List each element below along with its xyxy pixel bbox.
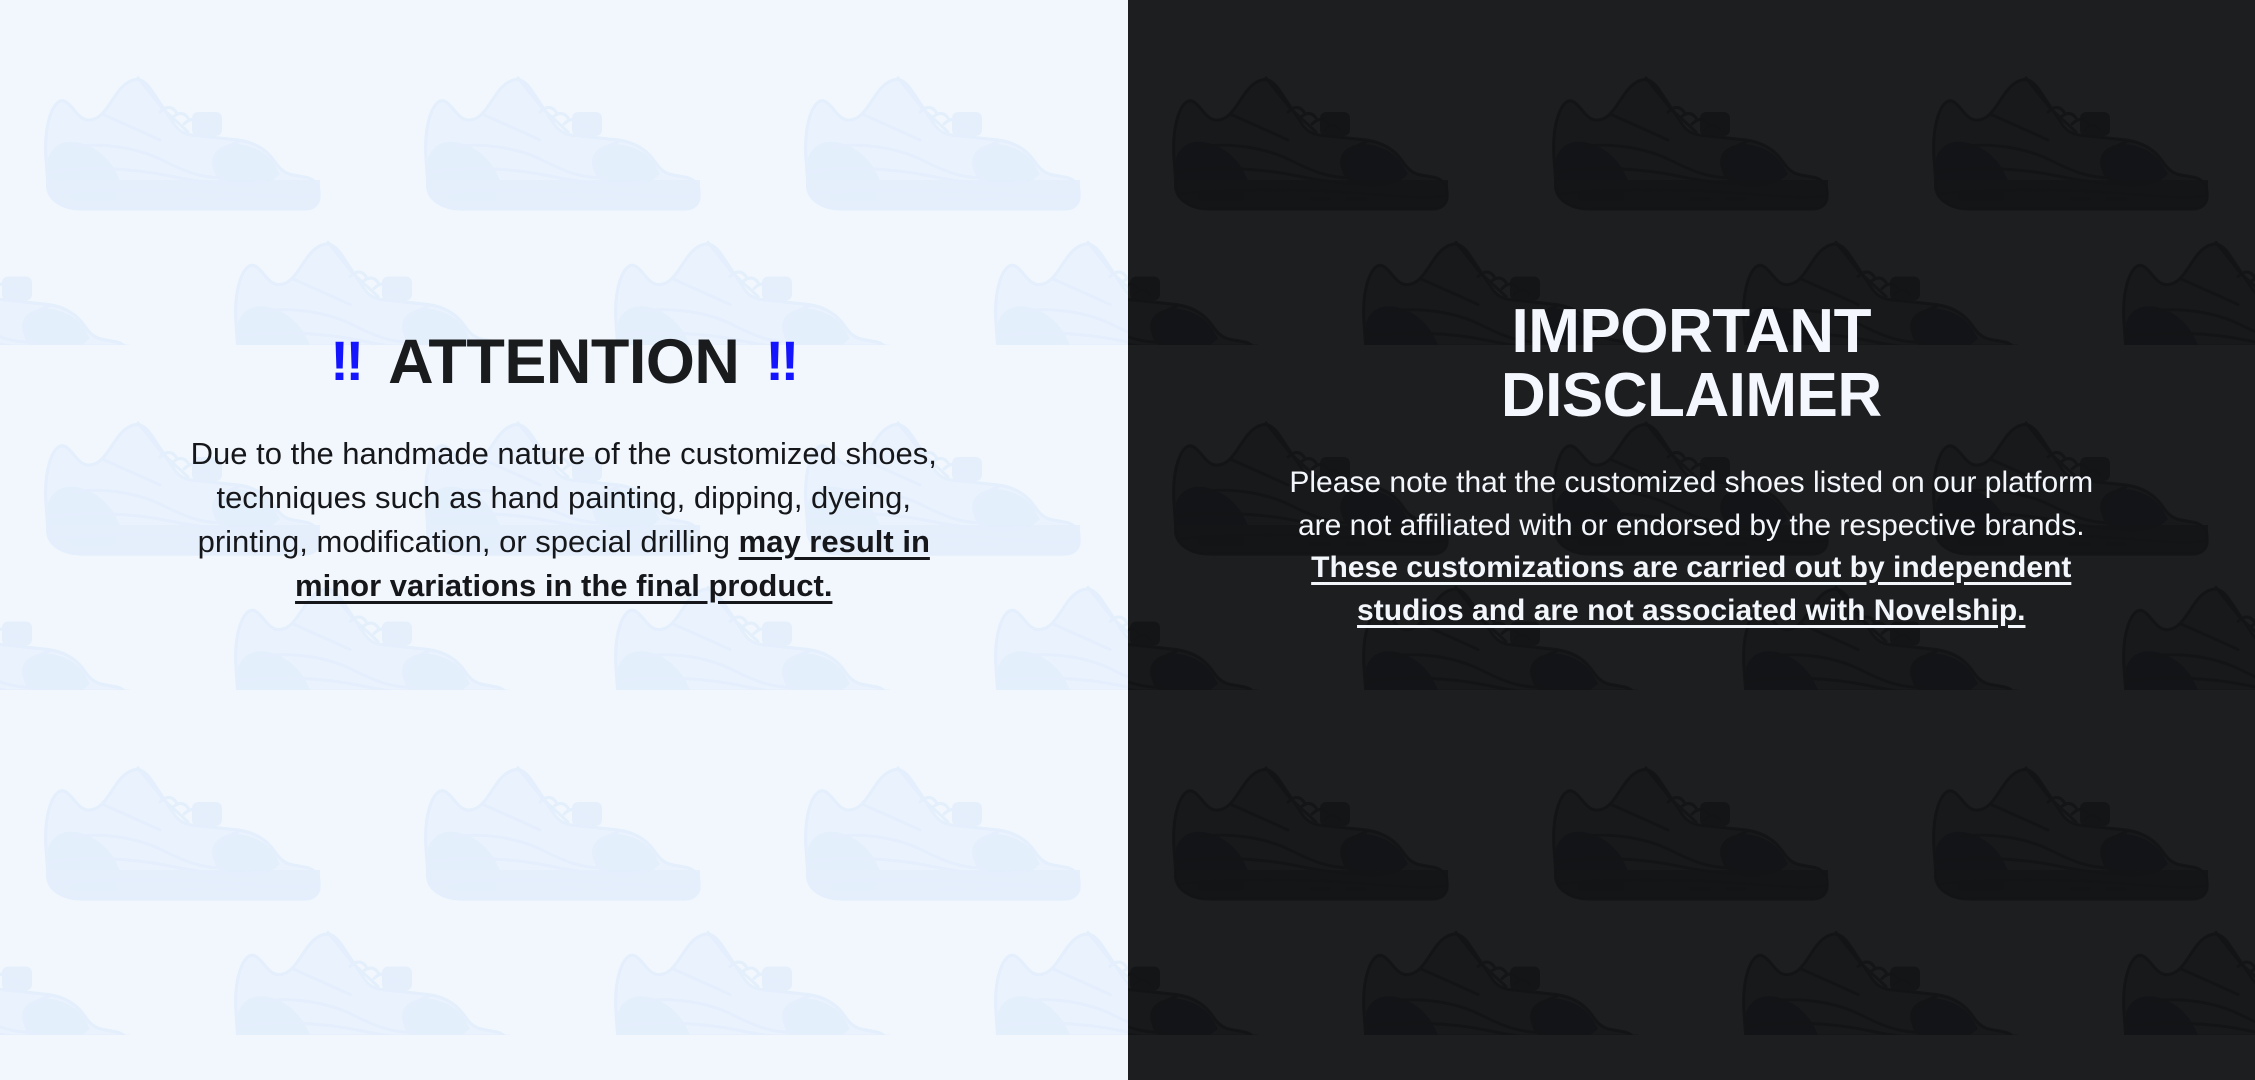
disclaimer-heading-line1: IMPORTANT [1512, 297, 1871, 366]
attention-panel: ‼ ATTENTION ‼ Due to the handmade nature… [0, 0, 1128, 1080]
disclaimer-heading: IMPORTANT DISCLAIMER [1501, 300, 1882, 429]
attention-heading: ‼ ATTENTION ‼ [330, 330, 797, 396]
disclaimer-heading-line2: DISCLAIMER [1501, 361, 1882, 430]
double-exclamation-icon-right: ‼ [765, 333, 797, 389]
attention-heading-text: ATTENTION [388, 330, 739, 396]
disclaimer-body-plain: Please note that the customized shoes li… [1289, 466, 2093, 542]
attention-content: ‼ ATTENTION ‼ Due to the handmade nature… [0, 0, 1128, 608]
disclaimer-body: Please note that the customized shoes li… [1286, 462, 2096, 632]
attention-body: Due to the handmade nature of the custom… [164, 432, 964, 608]
disclaimer-banner: ‼ ATTENTION ‼ Due to the handmade nature… [0, 0, 2255, 1080]
disclaimer-panel: IMPORTANT DISCLAIMER Please note that th… [1128, 0, 2255, 1080]
disclaimer-content: IMPORTANT DISCLAIMER Please note that th… [1128, 0, 2255, 632]
double-exclamation-icon-left: ‼ [330, 333, 362, 389]
disclaimer-body-emphasis: These customizations are carried out by … [1311, 551, 2071, 627]
